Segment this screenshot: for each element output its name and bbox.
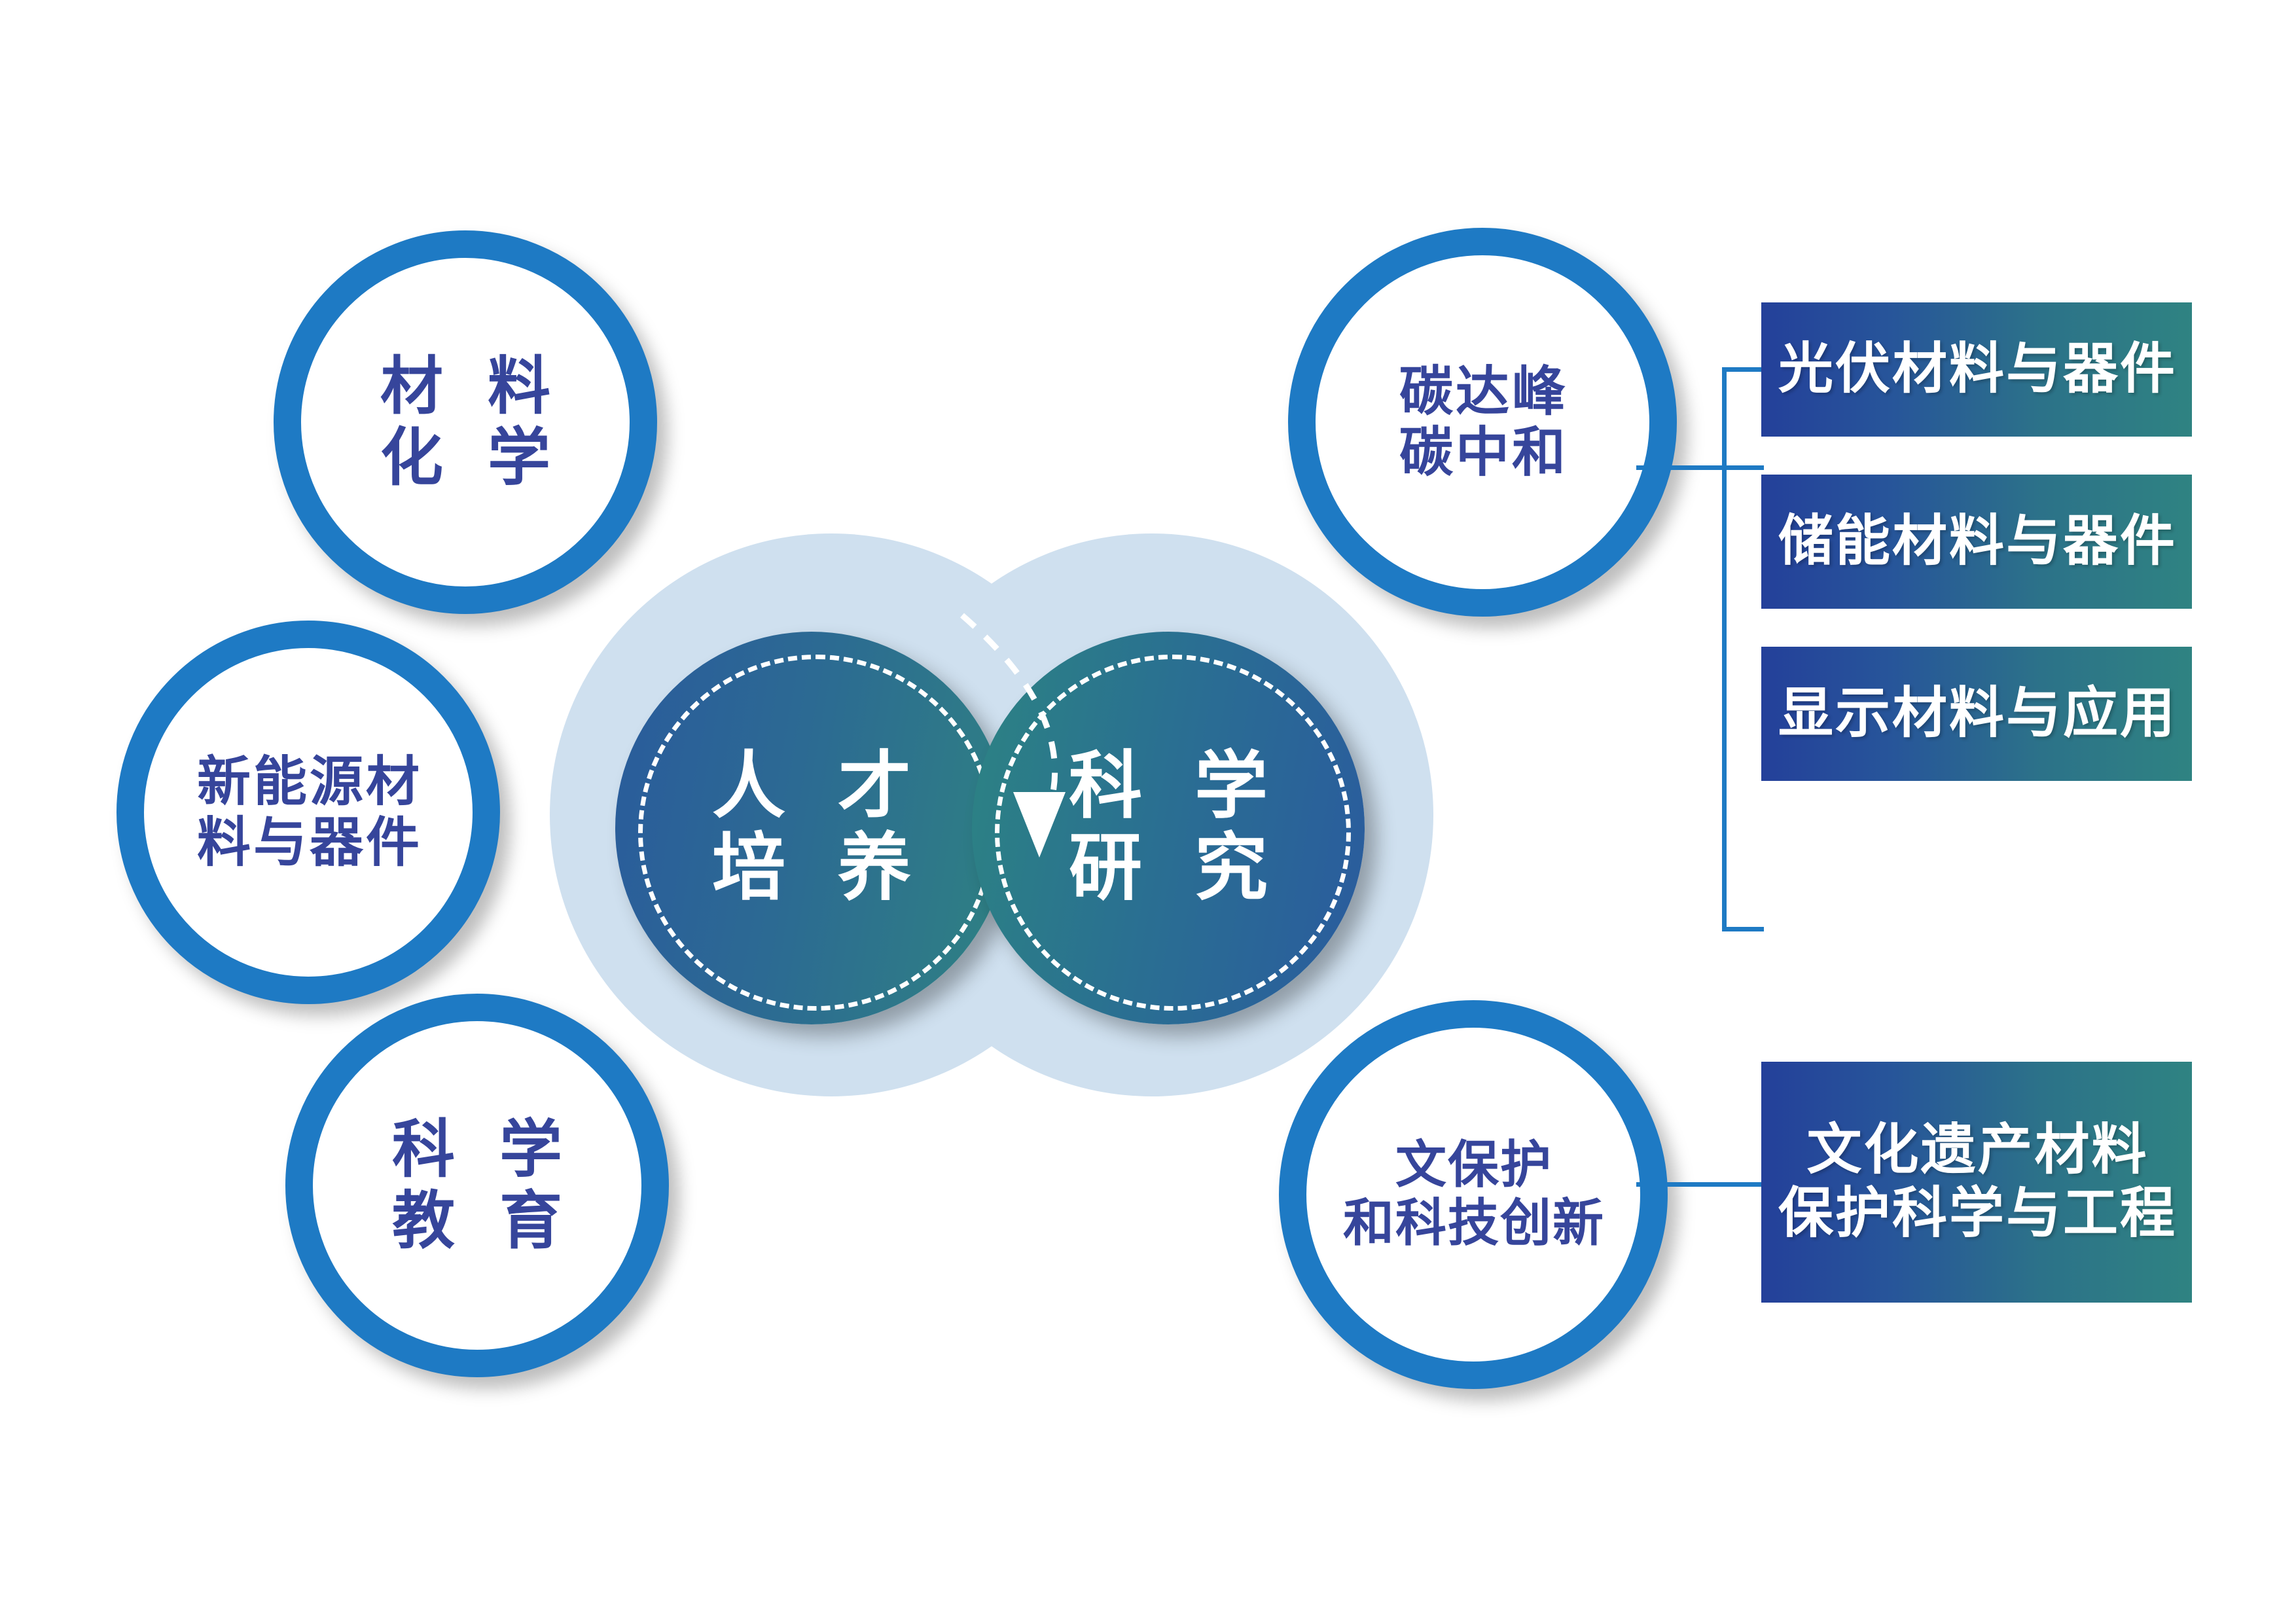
diagram-canvas: 人 才 培 养 科 学 研 究 材 料 化 学 新能源材 料与器件 科 学 教 …	[0, 0, 2296, 1624]
bar-energy-storage-materials[interactable]: 储能材料与器件	[1761, 475, 2192, 609]
connector-stem-heritage	[1636, 1182, 1764, 1187]
new-energy-materials-line2: 料与器件	[194, 812, 422, 873]
core-left-line2: 培 养	[695, 828, 928, 910]
materials-chemistry-line2: 化 学	[366, 422, 565, 494]
carbon-peak-line1: 碳达峰	[1397, 361, 1568, 422]
circle-science-education[interactable]: 科 学 教 育	[285, 994, 669, 1377]
heritage-protection-line1: 文保护	[1394, 1136, 1552, 1195]
bar-energy-storage-label: 储能材料与器件	[1776, 510, 2177, 573]
circle-materials-chemistry[interactable]: 材 料 化 学	[274, 230, 657, 614]
carbon-peak-line2: 碳中和	[1397, 422, 1568, 483]
connector-spine-carbon	[1722, 367, 1727, 931]
bar-photovoltaic-materials[interactable]: 光伏材料与器件	[1761, 302, 2192, 437]
bar-cultural-heritage-engineering[interactable]: 文化遗产材料 保护科学与工程	[1761, 1062, 2192, 1303]
bar-photovoltaic-label: 光伏材料与器件	[1776, 338, 2177, 401]
science-education-line1: 科 学	[378, 1114, 577, 1185]
connector-stem-carbon	[1636, 465, 1727, 470]
bar-heritage-line2: 保护科学与工程	[1776, 1182, 2177, 1246]
new-energy-materials-line1: 新能源材	[194, 751, 422, 812]
connector-branch-storage	[1722, 465, 1764, 470]
connector-branch-display	[1722, 927, 1764, 931]
science-education-line2: 教 育	[378, 1185, 577, 1257]
dashed-curved-arrow-icon	[936, 576, 1152, 1087]
circle-new-energy-materials[interactable]: 新能源材 料与器件	[117, 621, 500, 1004]
circle-heritage-protection[interactable]: 文保护 和科技创新	[1279, 1000, 1668, 1389]
heritage-protection-line2: 和科技创新	[1342, 1195, 1605, 1253]
connector-branch-photovoltaic	[1722, 367, 1764, 372]
bar-heritage-line1: 文化遗产材料	[1804, 1119, 2148, 1182]
core-left-line1: 人 才	[695, 746, 928, 828]
circle-carbon-peak-neutrality[interactable]: 碳达峰 碳中和	[1288, 228, 1677, 617]
bar-display-materials[interactable]: 显示材料与应用	[1761, 647, 2192, 781]
materials-chemistry-line1: 材 料	[366, 351, 565, 422]
bar-display-label: 显示材料与应用	[1776, 682, 2177, 746]
